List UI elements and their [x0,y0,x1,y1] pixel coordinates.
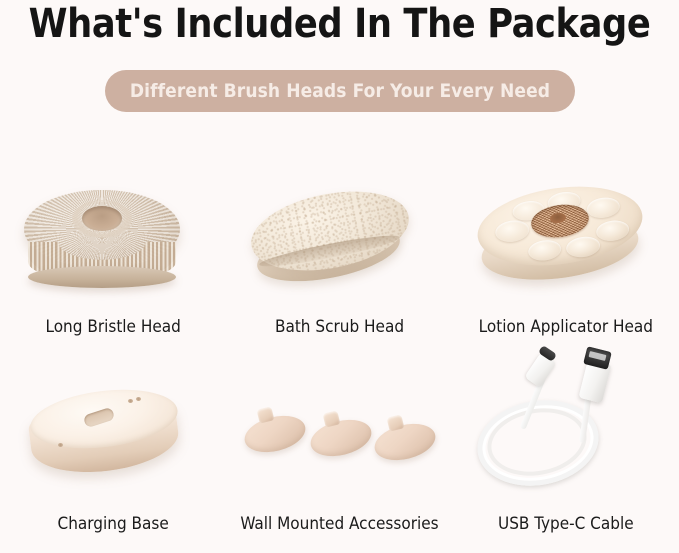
product-label: Bath Scrub Head [275,317,404,337]
page-title: What's Included In The Package [7,0,672,50]
product-cell-usb-type-c-cable: USB Type-C Cable [453,337,679,534]
product-grid: Long Bristle Head Bath Scrub Head [0,140,679,534]
product-label: Long Bristle Head [45,317,180,337]
product-cell-charging-base: Charging Base [0,337,226,534]
wall-mount-suction-cups-icon [226,337,452,512]
product-row: Long Bristle Head Bath Scrub Head [0,140,679,337]
product-cell-lotion-applicator-head: Lotion Applicator Head [453,140,679,337]
product-row: Charging Base Wall Mounted Accessories [0,337,679,534]
product-cell-wall-mounted-accessories: Wall Mounted Accessories [226,337,452,534]
lotion-applicator-disc-icon [453,140,679,315]
subtitle-badge: Different Brush Heads For Your Every Nee… [105,70,575,112]
product-cell-bath-scrub-head: Bath Scrub Head [226,140,452,337]
long-bristle-brush-head-icon [0,140,226,315]
product-cell-long-bristle-head: Long Bristle Head [0,140,226,337]
bath-scrub-pad-icon [226,140,452,315]
product-label: Lotion Applicator Head [479,317,653,337]
subtitle-badge-label: Different Brush Heads For Your Every Nee… [130,80,550,102]
product-label: USB Type-C Cable [498,514,634,534]
product-label: Charging Base [58,514,169,534]
product-label: Wall Mounted Accessories [240,514,438,534]
charging-base-puck-icon [0,337,226,512]
usb-type-c-cable-icon [453,337,679,512]
